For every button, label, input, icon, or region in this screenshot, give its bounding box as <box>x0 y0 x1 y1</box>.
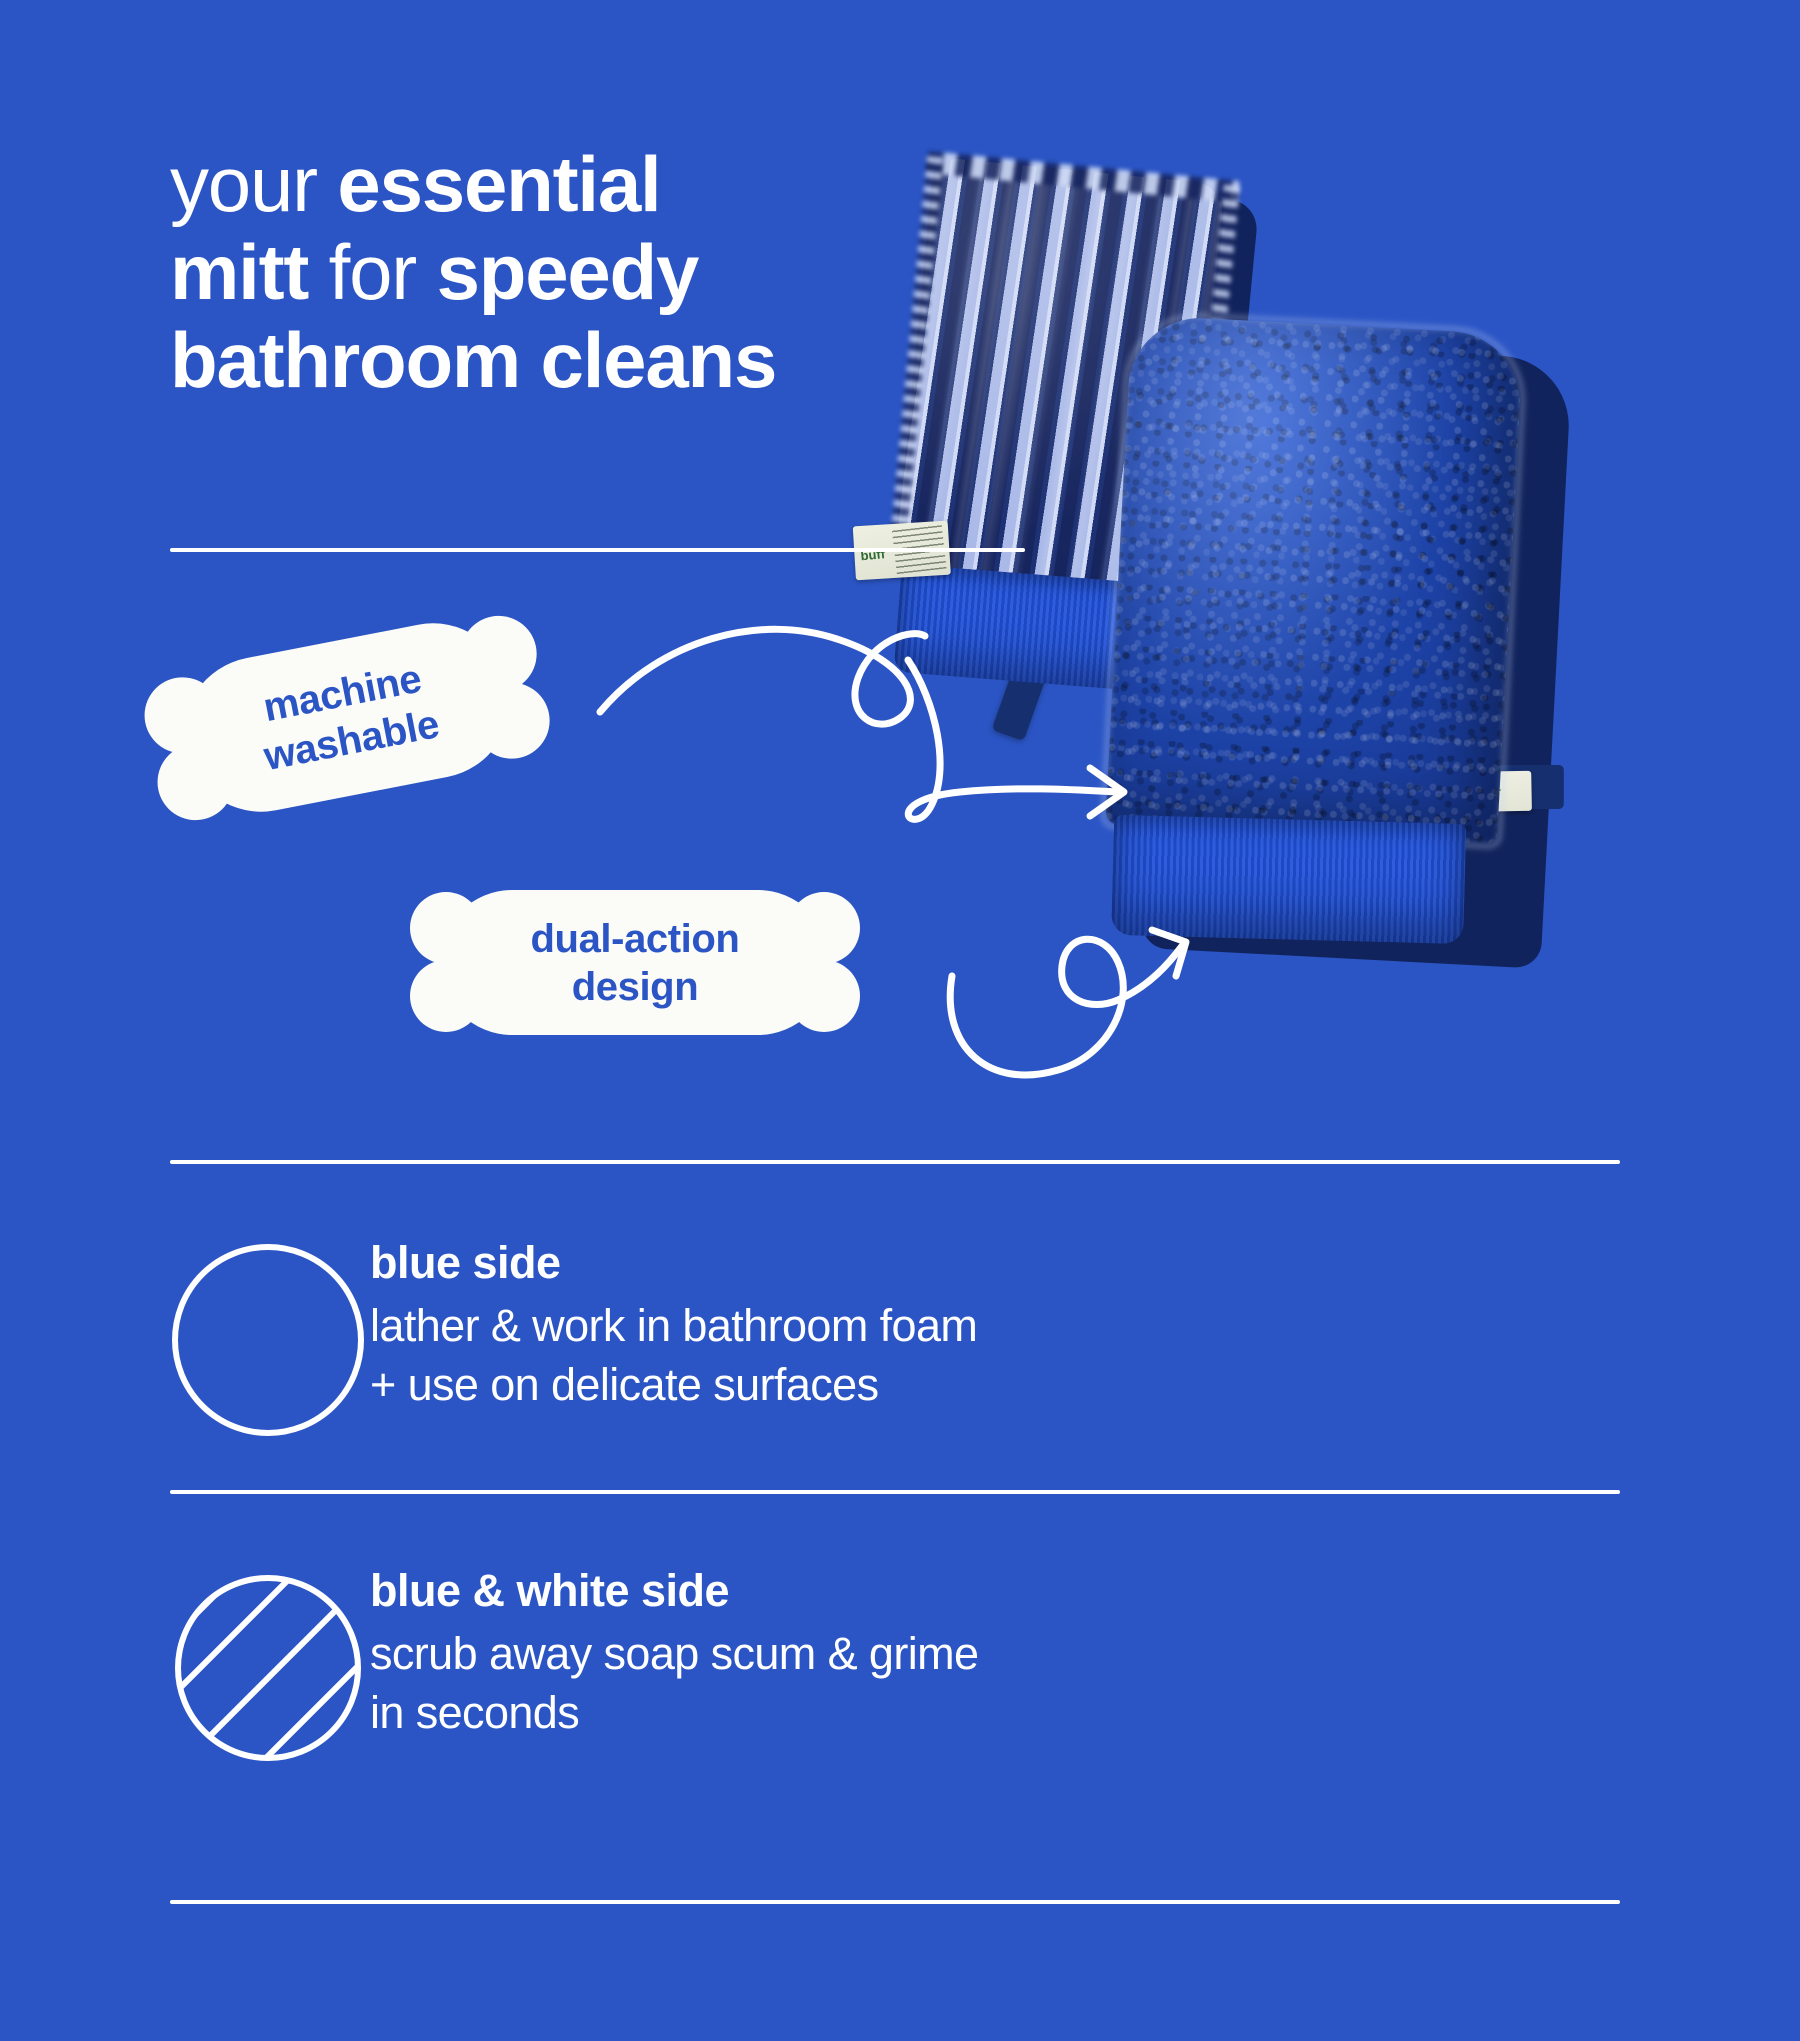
feature-text-blue-side: blue side lather & work in bathroom foam… <box>370 1232 977 1415</box>
feature-text-blue-white-side: blue & white side scrub away soap scum &… <box>370 1560 978 1743</box>
feature-title: blue side <box>370 1236 977 1290</box>
divider-bottom <box>170 1900 1620 1904</box>
feature-description: scrub away soap scum & grime in seconds <box>370 1624 978 1743</box>
arrow-path-lower-loop <box>950 939 1182 1075</box>
feature-row-blue-white-side: blue & white side scrub away soap scum &… <box>170 1560 1620 1775</box>
divider-between-features <box>170 1490 1620 1494</box>
arrow-path-upper-tail <box>908 660 1118 819</box>
divider-above-blue-side <box>170 1160 1620 1164</box>
arrow-path-upper-loop <box>600 629 925 724</box>
feature-description: lather & work in bathroom foam + use on … <box>370 1296 977 1415</box>
striped-circle-icon <box>170 1560 370 1775</box>
circle-outline-icon <box>170 1232 370 1447</box>
feature-title: blue & white side <box>370 1564 978 1618</box>
infographic-canvas: your essential mitt for speedy bathroom … <box>0 0 1800 2041</box>
feature-row-blue-side: blue side lather & work in bathroom foam… <box>170 1232 1620 1447</box>
